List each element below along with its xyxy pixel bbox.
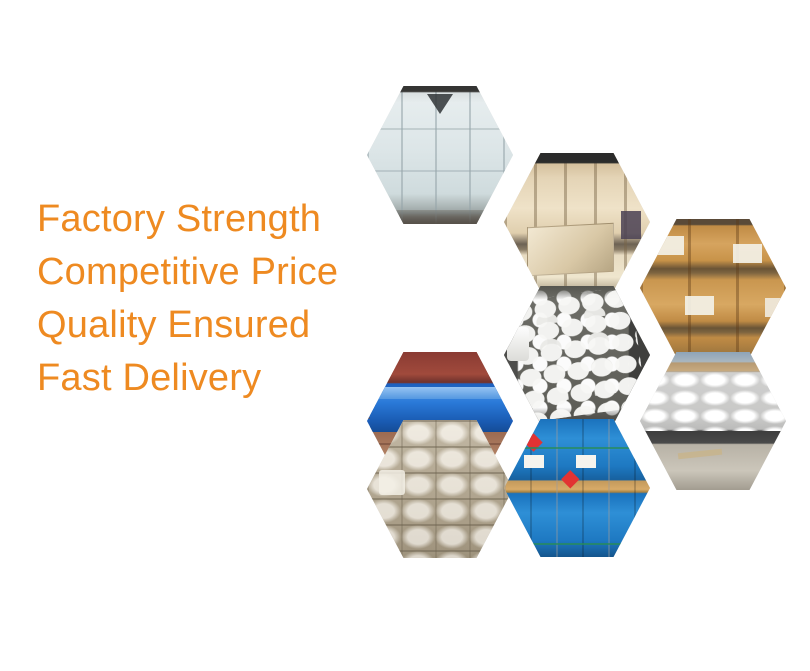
- drum-label: [524, 455, 544, 468]
- photo-white-ibc-totes: [367, 86, 513, 224]
- hex-photo-cream-wrapped-bags: [504, 153, 650, 291]
- hex-photo-white-woven-bags: [640, 352, 786, 490]
- hex-photo-blue-steel-drums: [504, 419, 650, 557]
- hex-photo-white-ibc-totes: [367, 86, 513, 224]
- photo-cream-wrapped-bags: [504, 153, 650, 291]
- photo-brown-fiber-drums: [640, 219, 786, 357]
- hex-photo-brown-fiber-drums: [640, 219, 786, 357]
- photo-white-plastic-bottles: [504, 286, 650, 424]
- promo-banner: Factory Strength Competitive Price Quali…: [0, 0, 810, 671]
- photo-white-woven-bags: [640, 352, 786, 490]
- hex-photo-white-plastic-bottles: [504, 286, 650, 424]
- drum-strap: [504, 447, 650, 449]
- hexagon-photo-collage: [0, 0, 810, 671]
- photo-blue-steel-drums: [504, 419, 650, 557]
